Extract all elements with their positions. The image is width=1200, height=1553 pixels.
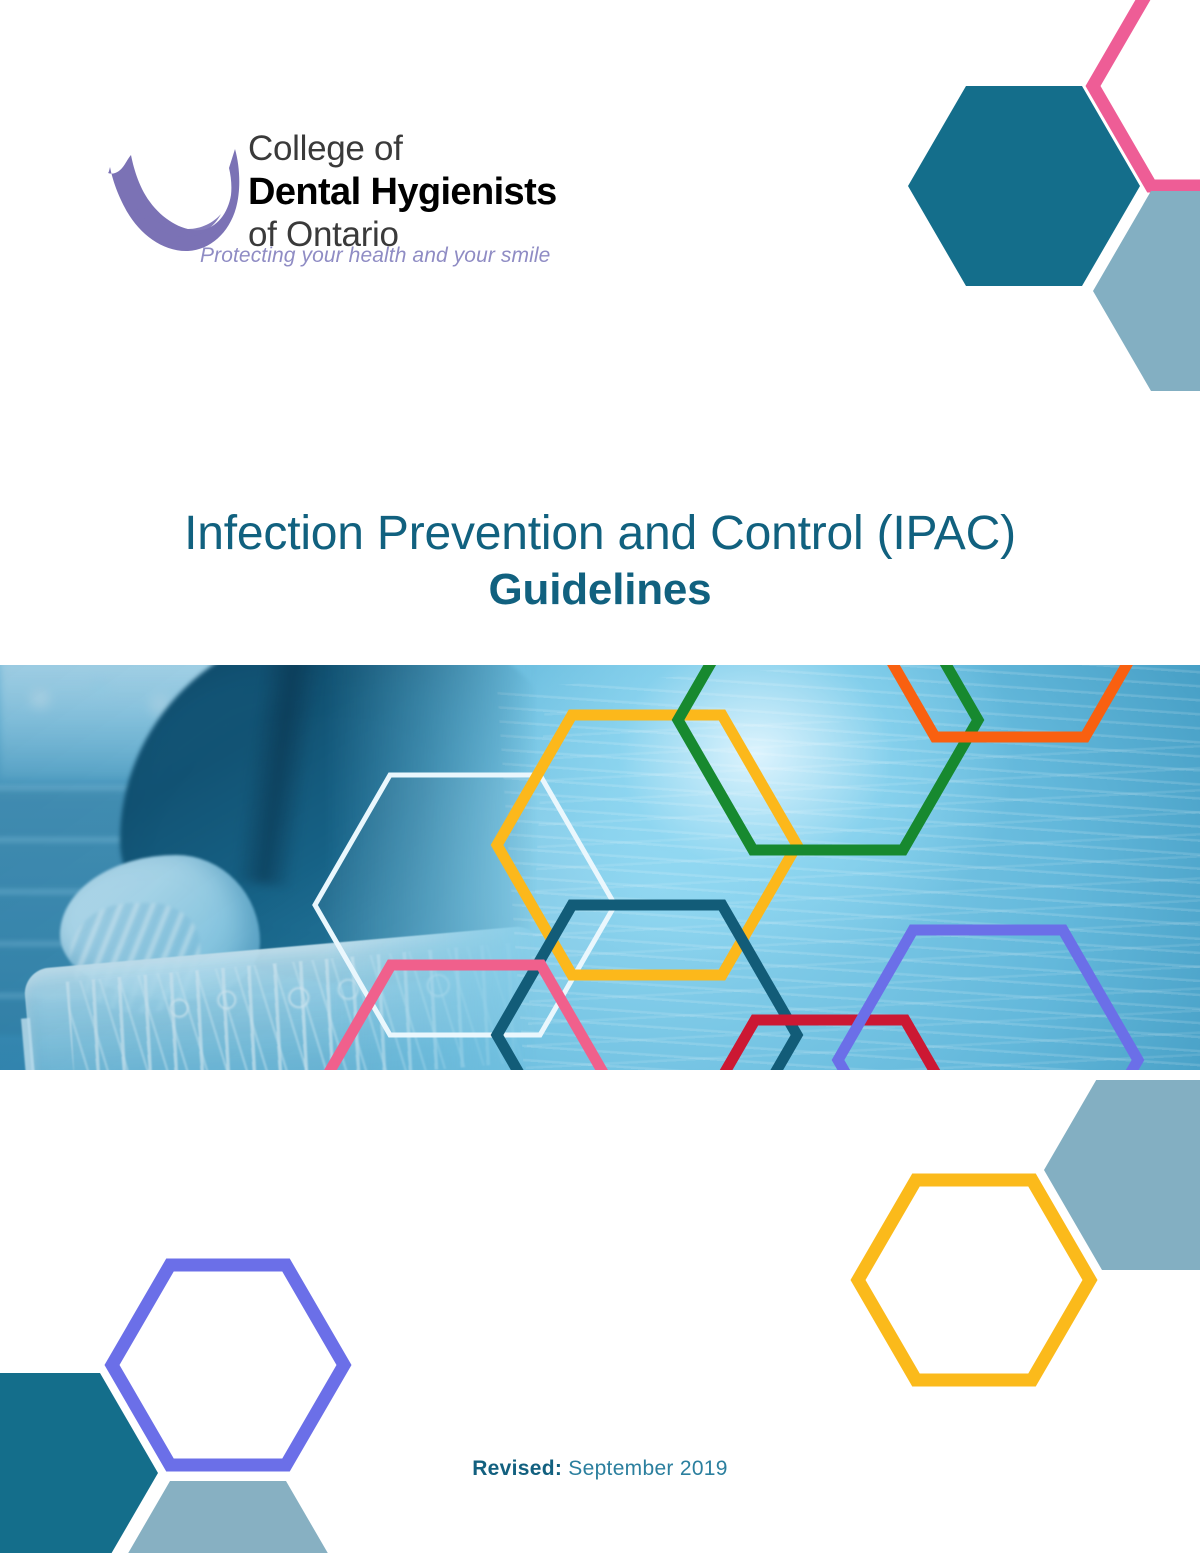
revision-label: Revised: — [472, 1457, 562, 1480]
revision-date: Revised: September 2019 — [0, 1457, 1200, 1481]
logo-tagline: Protecting your health and your smile — [200, 244, 550, 268]
logo-line-college-of: College of — [248, 128, 618, 170]
decor-hexagons-bottom-right — [846, 1080, 1200, 1420]
hexagon-green-outline — [678, 665, 978, 850]
organization-logo: College of Dental Hygienists of Ontario … — [100, 128, 620, 278]
banner-hexagon-overlays — [0, 665, 1200, 1070]
hexagon-periwinkle-outline — [112, 1265, 344, 1465]
page-title: Infection Prevention and Control (IPAC) … — [0, 505, 1200, 617]
logo-wordmark: College of Dental Hygienists of Ontario — [248, 128, 618, 256]
decor-hexagons-bottom-left — [0, 1248, 354, 1553]
hexagon-orange-outline — [860, 665, 1160, 737]
logo-line-dental-hygienists: Dental Hygienists — [248, 170, 618, 214]
document-cover-page: College of Dental Hygienists of Ontario … — [0, 0, 1200, 1553]
decor-hexagons-top-right — [848, 0, 1200, 396]
revision-value: September 2019 — [562, 1457, 728, 1480]
title-primary: Infection Prevention and Control (IPAC) — [0, 505, 1200, 563]
title-secondary: Guidelines — [0, 563, 1200, 617]
cover-banner-image — [0, 665, 1200, 1070]
hexagon-amber-outline — [858, 1180, 1090, 1380]
hexagon-crimson-outline — [680, 1020, 980, 1070]
hexagon-periwinkle-outline-banner — [838, 930, 1138, 1070]
